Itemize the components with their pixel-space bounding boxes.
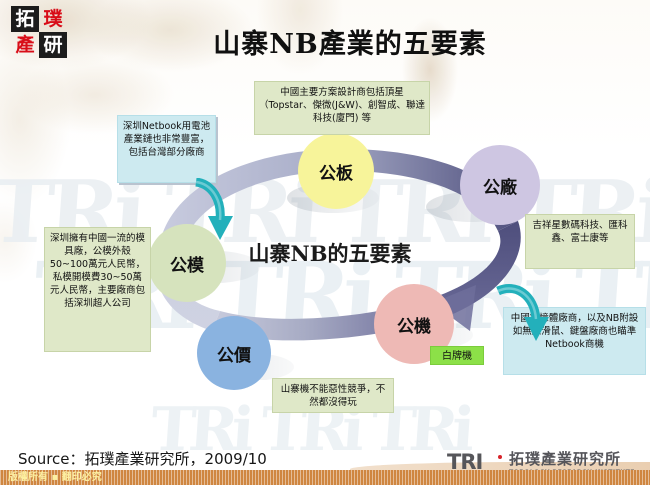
tri-logo-dot-icon	[498, 455, 502, 459]
node-label: 公板	[319, 159, 353, 184]
node-public-price[interactable]: 公價	[197, 316, 271, 390]
footer-bar: 版權所有 ▪ 翻印必究	[0, 470, 650, 485]
arrow-battery-to-mold	[186, 178, 246, 248]
source-caption: Source：拓璞產業研究所，2009/10	[18, 448, 267, 469]
callout-factory-list: 吉祥星數碼科技、匯科鑫、富士康等	[525, 214, 635, 269]
brand-logo-char-4: 研	[39, 32, 67, 58]
node-label: 公廠	[483, 173, 517, 198]
node-label: 公價	[217, 341, 251, 366]
callout-board-designers: 中國主要方案設計商包括頂星（Topstar、傑微(J&W)、創智成、聯達科技(廈…	[254, 81, 430, 135]
node-label: 公模	[170, 251, 204, 276]
node-public-board[interactable]: 公板	[298, 133, 374, 209]
copyright-notice: 版權所有 ▪ 翻印必究	[8, 470, 102, 485]
tri-logo-chinese-name: 拓璞產業研究所	[509, 451, 621, 468]
callout-mold-makers: 深圳擁有中國一流的模具廠，公模外殼50~100萬元人民幣，私模開模費30~50萬…	[44, 227, 151, 352]
brand-logo-char-2: 璞	[39, 6, 67, 32]
arrow-factory-to-memory	[490, 281, 552, 353]
slide-canvas: TRi TRi TRi TRi TR TRi TRi TRi TRi TRi T…	[0, 0, 650, 485]
diagram-center-label: 山寨NB的五要素	[240, 238, 420, 268]
callout-price-competition: 山寨機不能惡性競爭，不然都沒得玩	[272, 378, 394, 413]
brand-logo: 拓 璞 產 研	[11, 6, 67, 59]
node-public-factory[interactable]: 公廠	[460, 145, 540, 225]
callout-white-brand-tag: 白牌機	[430, 346, 484, 365]
callout-battery-supply-chain: 深圳Netbook用電池產業鏈也非常豐富，包括台灣部分廠商	[117, 115, 216, 183]
brand-logo-char-3: 產	[11, 32, 39, 58]
brand-logo-char-1: 拓	[11, 6, 39, 32]
page-title: 山寨NB產業的五要素	[150, 22, 550, 61]
node-label: 公機	[397, 312, 431, 337]
